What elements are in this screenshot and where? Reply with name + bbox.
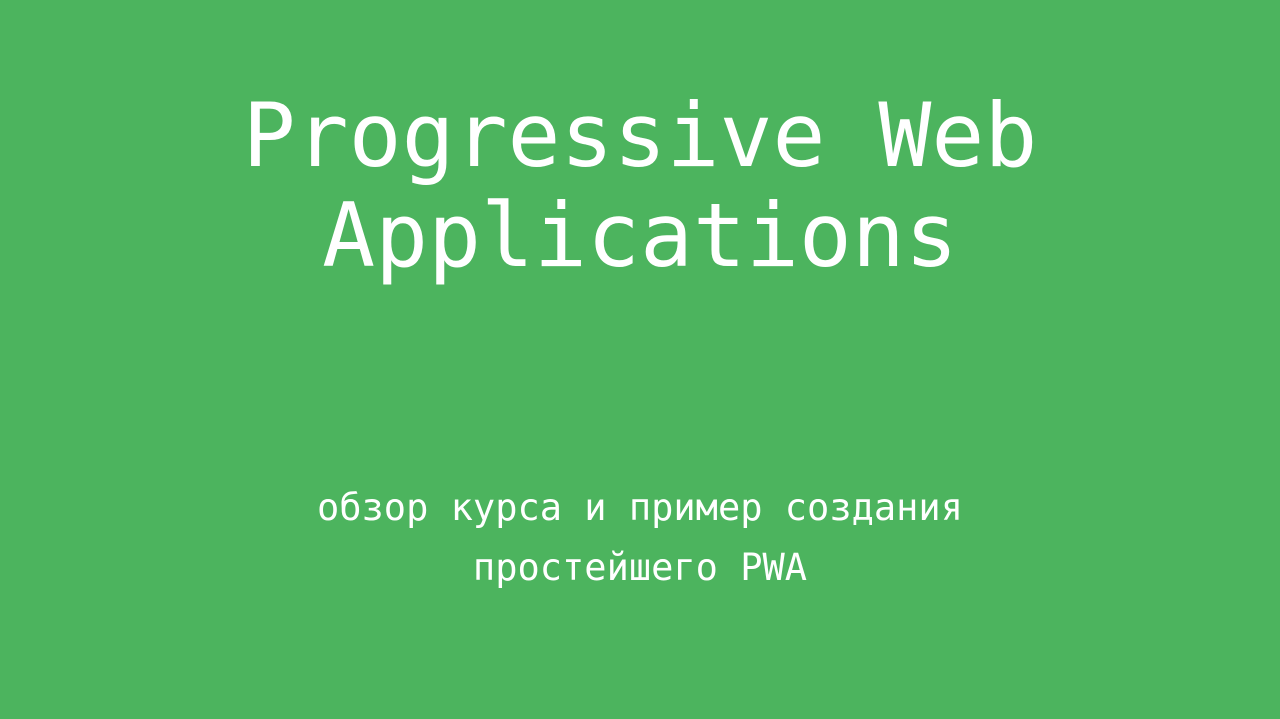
title-line-2: Applications bbox=[0, 186, 1280, 286]
title-slide: Progressive Web Applications обзор курса… bbox=[0, 0, 1280, 719]
slide-subtitle: обзор курса и пример создания простейшег… bbox=[0, 478, 1280, 598]
subtitle-line-2: простейшего PWA bbox=[0, 538, 1280, 598]
subtitle-line-1: обзор курса и пример создания bbox=[0, 478, 1280, 538]
slide-title: Progressive Web Applications bbox=[0, 86, 1280, 286]
title-line-1: Progressive Web bbox=[0, 86, 1280, 186]
